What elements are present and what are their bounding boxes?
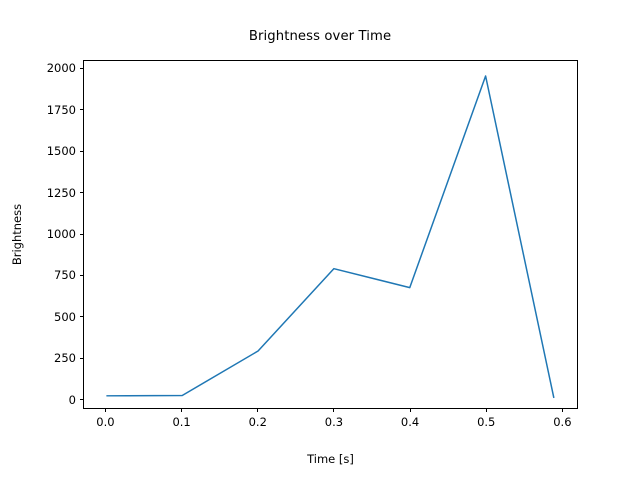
y-tick-label: 2000 — [47, 61, 76, 75]
x-tick-label: 0.1 — [172, 415, 190, 429]
x-tick-mark — [181, 409, 182, 413]
y-tick-label: 1500 — [47, 144, 76, 158]
x-tick-label: 0.2 — [249, 415, 267, 429]
x-tick-label: 0.3 — [325, 415, 343, 429]
y-tick-label: 500 — [54, 310, 76, 324]
y-tick-label: 1000 — [47, 227, 76, 241]
chart-title: Brightness over Time — [0, 29, 640, 44]
x-tick-label: 0.6 — [553, 415, 571, 429]
x-tick-label: 0.4 — [401, 415, 419, 429]
line-brightness — [106, 76, 553, 398]
y-tick-label: 0 — [69, 393, 76, 407]
y-tick-label: 750 — [54, 268, 76, 282]
y-axis-label: Brightness — [8, 60, 26, 409]
data-line-series — [84, 61, 577, 408]
y-tick-label: 1750 — [47, 103, 76, 117]
plot-area — [83, 60, 578, 409]
figure-canvas: Brightness over Time 0250500750100012501… — [0, 0, 640, 480]
x-tick-mark — [486, 409, 487, 413]
x-tick-label: 0.0 — [96, 415, 114, 429]
x-tick-mark — [333, 409, 334, 413]
y-tick-label: 250 — [54, 351, 76, 365]
x-tick-label: 0.5 — [477, 415, 495, 429]
x-axis-label: Time [s] — [83, 452, 578, 466]
x-tick-mark — [562, 409, 563, 413]
x-tick-mark — [105, 409, 106, 413]
x-tick-mark — [257, 409, 258, 413]
y-tick-label: 1250 — [47, 186, 76, 200]
x-tick-mark — [410, 409, 411, 413]
